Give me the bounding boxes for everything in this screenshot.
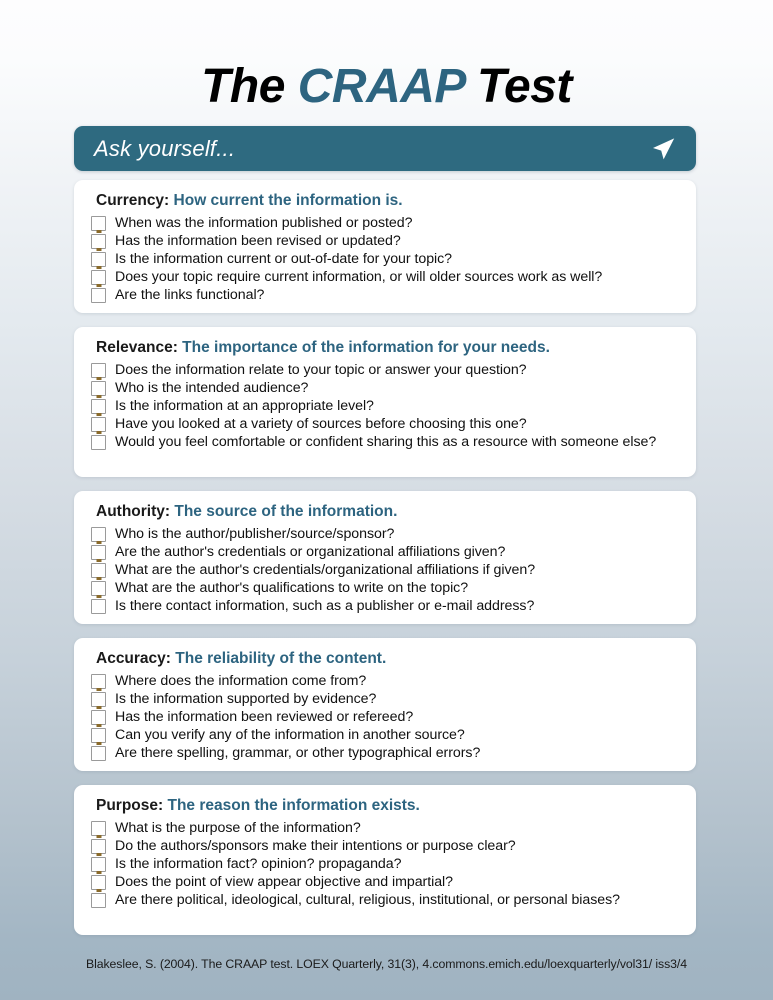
list-item[interactable]: Would you feel comfortable or confident … [90, 434, 680, 451]
list-item-label: Who is the intended audience? [115, 380, 308, 397]
list-item[interactable]: Are the links functional? [90, 287, 680, 304]
list-item[interactable]: Does your topic require current informat… [90, 269, 680, 286]
checkbox-icon[interactable] [91, 563, 106, 578]
checkbox-icon[interactable] [91, 234, 106, 249]
checkbox-icon[interactable] [91, 417, 106, 432]
section-heading: Relevance: The importance of the informa… [96, 339, 680, 358]
list-item-label: Does the point of view appear objective … [115, 874, 453, 891]
checkbox-icon[interactable] [91, 216, 106, 231]
page-title-accent: CRAAP [298, 60, 464, 113]
page-title-part1: The [201, 60, 298, 113]
list-item-label: Can you verify any of the information in… [115, 727, 465, 744]
checkbox-icon[interactable] [91, 545, 106, 560]
section-subtitle: The reason the information exists. [168, 797, 420, 814]
checkbox-icon[interactable] [91, 270, 106, 285]
checkbox-icon[interactable] [91, 674, 106, 689]
section-heading: Authority: The source of the information… [96, 503, 680, 522]
checkbox-icon[interactable] [91, 857, 106, 872]
list-item[interactable]: What are the author's qualifications to … [90, 580, 680, 597]
checkbox-icon[interactable] [91, 875, 106, 890]
checklist: Where does the information come from? Is… [90, 673, 680, 763]
list-item-label: Do the authors/sponsors make their inten… [115, 838, 516, 855]
checklist: Who is the author/publisher/source/spons… [90, 526, 680, 616]
list-item[interactable]: Is the information fact? opinion? propag… [90, 856, 680, 873]
list-item[interactable]: Where does the information come from? [90, 673, 680, 690]
section-label: Currency: [96, 192, 169, 209]
section-subtitle: How current the information is. [174, 192, 403, 209]
list-item-label: Are there political, ideological, cultur… [115, 892, 620, 909]
checklist: What is the purpose of the information? … [90, 820, 680, 910]
citation: Blakeslee, S. (2004). The CRAAP test. LO… [0, 957, 773, 971]
checkbox-icon[interactable] [91, 599, 106, 614]
list-item-label: What are the author's qualifications to … [115, 580, 468, 597]
section-label: Authority: [96, 503, 170, 520]
list-item[interactable]: Who is the author/publisher/source/spons… [90, 526, 680, 543]
list-item-label: Have you looked at a variety of sources … [115, 416, 527, 433]
section-card-relevance: Relevance: The importance of the informa… [74, 327, 696, 477]
list-item-label: Are the links functional? [115, 287, 264, 304]
list-item[interactable]: Have you looked at a variety of sources … [90, 416, 680, 433]
list-item[interactable]: Is the information current or out-of-dat… [90, 251, 680, 268]
list-item-label: What is the purpose of the information? [115, 820, 361, 837]
list-item-label: What are the author's credentials/organi… [115, 562, 535, 579]
list-item-label: Are there spelling, grammar, or other ty… [115, 745, 480, 762]
list-item-label: When was the information published or po… [115, 215, 412, 232]
list-item[interactable]: Has the information been revised or upda… [90, 233, 680, 250]
list-item[interactable]: When was the information published or po… [90, 215, 680, 232]
checklist: Does the information relate to your topi… [90, 362, 680, 452]
checkbox-icon[interactable] [91, 527, 106, 542]
list-item-label: Has the information been reviewed or ref… [115, 709, 413, 726]
section-label: Purpose: [96, 797, 163, 814]
list-item-label: Who is the author/publisher/source/spons… [115, 526, 394, 543]
checkbox-icon[interactable] [91, 821, 106, 836]
section-heading: Currency: How current the information is… [96, 192, 680, 211]
list-item-label: Is the information at an appropriate lev… [115, 398, 374, 415]
list-item[interactable]: Are the author's credentials or organiza… [90, 544, 680, 561]
list-item[interactable]: Can you verify any of the information in… [90, 727, 680, 744]
list-item[interactable]: Is the information at an appropriate lev… [90, 398, 680, 415]
list-item-label: Has the information been revised or upda… [115, 233, 401, 250]
list-item[interactable]: Are there political, ideological, cultur… [90, 892, 680, 909]
checkbox-icon[interactable] [91, 399, 106, 414]
list-item-label: Does your topic require current informat… [115, 269, 602, 286]
list-item[interactable]: What is the purpose of the information? [90, 820, 680, 837]
section-label: Accuracy: [96, 650, 171, 667]
section-heading: Purpose: The reason the information exis… [96, 797, 680, 816]
craap-test-poster: The CRAAP Test Ask yourself... Currency:… [0, 0, 773, 1000]
list-item[interactable]: What are the author's credentials/organi… [90, 562, 680, 579]
list-item[interactable]: Are there spelling, grammar, or other ty… [90, 745, 680, 762]
checkbox-icon[interactable] [91, 746, 106, 761]
list-item[interactable]: Who is the intended audience? [90, 380, 680, 397]
page-title-part2: Test [464, 60, 572, 113]
section-card-authority: Authority: The source of the information… [74, 491, 696, 624]
send-icon[interactable] [648, 134, 678, 164]
checkbox-icon[interactable] [91, 710, 106, 725]
list-item-label: Does the information relate to your topi… [115, 362, 527, 379]
section-subtitle: The source of the information. [174, 503, 397, 520]
checkbox-icon[interactable] [91, 435, 106, 450]
list-item[interactable]: Does the information relate to your topi… [90, 362, 680, 379]
list-item[interactable]: Has the information been reviewed or ref… [90, 709, 680, 726]
list-item-label: Where does the information come from? [115, 673, 366, 690]
list-item-label: Is there contact information, such as a … [115, 598, 534, 615]
list-item-label: Would you feel comfortable or confident … [115, 434, 656, 451]
section-label: Relevance: [96, 339, 178, 356]
section-heading: Accuracy: The reliability of the content… [96, 650, 680, 669]
section-subtitle: The importance of the information for yo… [182, 339, 550, 356]
banner-label: Ask yourself... [94, 136, 235, 162]
list-item[interactable]: Do the authors/sponsors make their inten… [90, 838, 680, 855]
list-item[interactable]: Does the point of view appear objective … [90, 874, 680, 891]
checkbox-icon[interactable] [91, 839, 106, 854]
checkbox-icon[interactable] [91, 252, 106, 267]
list-item[interactable]: Is there contact information, such as a … [90, 598, 680, 615]
page-title: The CRAAP Test [0, 60, 773, 114]
section-card-currency: Currency: How current the information is… [74, 180, 696, 313]
list-item-label: Is the information current or out-of-dat… [115, 251, 452, 268]
checkbox-icon[interactable] [91, 581, 106, 596]
checklist: When was the information published or po… [90, 215, 680, 305]
checkbox-icon[interactable] [91, 893, 106, 908]
section-card-purpose: Purpose: The reason the information exis… [74, 785, 696, 935]
list-item-label: Are the author's credentials or organiza… [115, 544, 505, 561]
ask-yourself-banner[interactable]: Ask yourself... [74, 126, 696, 171]
list-item-label: Is the information supported by evidence… [115, 691, 376, 708]
section-card-accuracy: Accuracy: The reliability of the content… [74, 638, 696, 771]
list-item[interactable]: Is the information supported by evidence… [90, 691, 680, 708]
section-subtitle: The reliability of the content. [175, 650, 386, 667]
checkbox-icon[interactable] [91, 728, 106, 743]
checkbox-icon[interactable] [91, 288, 106, 303]
checkbox-icon[interactable] [91, 692, 106, 707]
checkbox-icon[interactable] [91, 363, 106, 378]
checkbox-icon[interactable] [91, 381, 106, 396]
list-item-label: Is the information fact? opinion? propag… [115, 856, 401, 873]
